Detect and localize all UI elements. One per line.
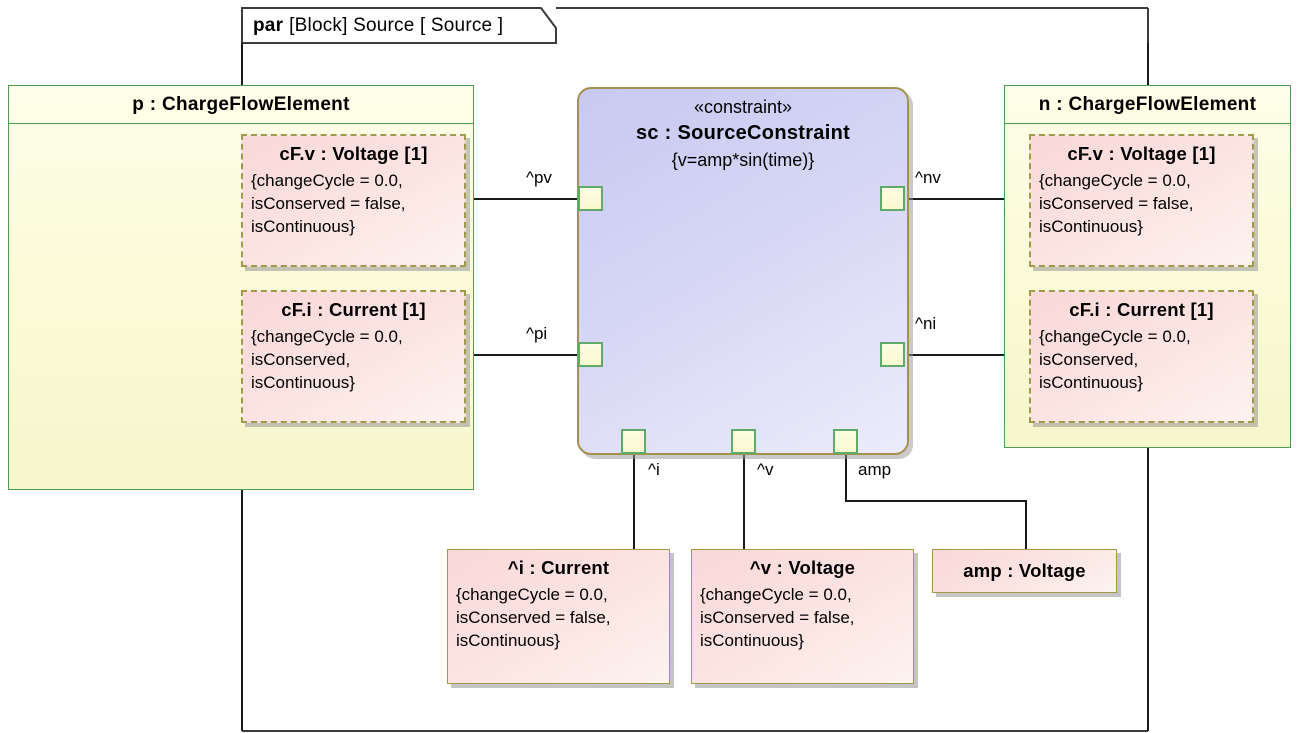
port-label-ni: ^ni xyxy=(915,314,936,334)
constraint-property-v-body: {changeCycle = 0.0, isConserved = false,… xyxy=(692,579,913,652)
constraint-property-n-cfv[interactable]: cF.v : Voltage [1] {changeCycle = 0.0, i… xyxy=(1029,134,1254,267)
constraint-property-p-cfi-title: cF.i : Current [1] xyxy=(243,292,464,321)
port-label-pv: ^pv xyxy=(526,168,552,188)
constraint-block-sc[interactable]: «constraint» sc : SourceConstraint {v=am… xyxy=(577,87,909,455)
constraint-property-p-cfv-body: {changeCycle = 0.0, isConserved = false,… xyxy=(243,165,464,238)
connector-frame-to-n xyxy=(1147,43,1149,85)
constraint-block-stereotype: «constraint» xyxy=(579,89,907,118)
constraint-property-v-title: ^v : Voltage xyxy=(692,550,913,579)
constraint-block-expression: {v=amp*sin(time)} xyxy=(579,145,907,171)
connector-p-to-frame xyxy=(241,490,243,731)
constraint-property-amp-title: amp : Voltage xyxy=(963,562,1086,581)
port-label-nv: ^nv xyxy=(915,168,941,188)
parametric-diagram-canvas: par [Block] Source [ Source ] p : Charge… xyxy=(0,0,1299,733)
constraint-block-name: sc : SourceConstraint xyxy=(579,118,907,145)
connector-frame-to-p xyxy=(241,43,243,85)
port-pv[interactable] xyxy=(578,186,603,211)
connector-amp-seg1 xyxy=(845,455,847,502)
constraint-property-n-cfv-title: cF.v : Voltage [1] xyxy=(1031,136,1252,165)
port-label-i: ^i xyxy=(648,460,660,480)
connector-pi xyxy=(466,354,581,356)
constraint-property-v[interactable]: ^v : Voltage {changeCycle = 0.0, isConse… xyxy=(691,549,914,684)
constraint-property-n-cfi-title: cF.i : Current [1] xyxy=(1031,292,1252,321)
port-pi[interactable] xyxy=(578,342,603,367)
connector-v xyxy=(743,455,745,550)
port-v[interactable] xyxy=(731,429,756,454)
connector-amp-seg2 xyxy=(845,500,1027,502)
frame-keyword: par xyxy=(253,15,283,37)
part-p[interactable]: p : ChargeFlowElement cF.v : Voltage [1]… xyxy=(8,85,474,490)
port-ni[interactable] xyxy=(880,342,905,367)
port-nv[interactable] xyxy=(880,186,905,211)
constraint-property-n-cfv-body: {changeCycle = 0.0, isConserved = false,… xyxy=(1031,165,1252,238)
part-p-title: p : ChargeFlowElement xyxy=(9,86,473,124)
port-label-amp: amp xyxy=(858,460,891,480)
connector-i xyxy=(633,455,635,550)
connector-amp-seg3 xyxy=(1025,500,1027,550)
constraint-property-n-cfi[interactable]: cF.i : Current [1] {changeCycle = 0.0, i… xyxy=(1029,290,1254,423)
constraint-property-p-cfi-body: {changeCycle = 0.0, isConserved, isConti… xyxy=(243,321,464,394)
port-i[interactable] xyxy=(621,429,646,454)
part-n-title: n : ChargeFlowElement xyxy=(1005,86,1290,124)
connector-n-to-frame xyxy=(1147,448,1149,731)
constraint-property-p-cfv[interactable]: cF.v : Voltage [1] {changeCycle = 0.0, i… xyxy=(241,134,466,267)
constraint-property-n-cfi-body: {changeCycle = 0.0, isConserved, isConti… xyxy=(1031,321,1252,394)
frame-label: par [Block] Source [ Source ] xyxy=(253,10,503,42)
port-label-v: ^v xyxy=(757,460,773,480)
constraint-property-i-title: ^i : Current xyxy=(448,550,669,579)
constraint-property-i[interactable]: ^i : Current {changeCycle = 0.0, isConse… xyxy=(447,549,670,684)
constraint-property-p-cfi[interactable]: cF.i : Current [1] {changeCycle = 0.0, i… xyxy=(241,290,466,423)
constraint-property-amp[interactable]: amp : Voltage xyxy=(932,549,1117,593)
constraint-property-i-body: {changeCycle = 0.0, isConserved = false,… xyxy=(448,579,669,652)
part-n[interactable]: n : ChargeFlowElement cF.v : Voltage [1]… xyxy=(1004,85,1291,448)
port-amp[interactable] xyxy=(833,429,858,454)
connector-pv xyxy=(466,198,581,200)
port-label-pi: ^pi xyxy=(526,324,547,344)
constraint-property-p-cfv-title: cF.v : Voltage [1] xyxy=(243,136,464,165)
frame-title: [Block] Source [ Source ] xyxy=(289,15,503,37)
